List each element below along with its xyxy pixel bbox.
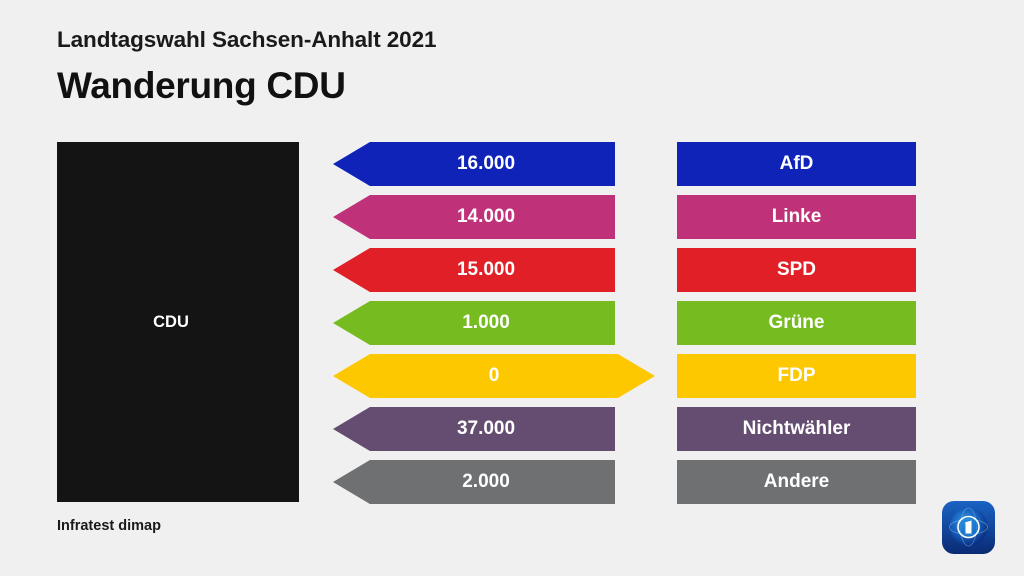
header: Landtagswahl Sachsen-Anhalt 2021 Wanderu…: [57, 28, 957, 107]
election-kicker: Landtagswahl Sachsen-Anhalt 2021: [57, 28, 957, 53]
party-name-label: FDP: [778, 365, 816, 387]
party-bar-andere[interactable]: Andere: [677, 460, 916, 504]
flow-value-label: 1.000: [462, 312, 510, 334]
flow-value-bar-fdp[interactable]: 0: [333, 354, 655, 398]
flow-row: 0FDP: [0, 354, 1024, 398]
source-credit: Infratest dimap: [57, 518, 161, 534]
flow-value-label: 37.000: [457, 418, 515, 440]
party-bar-spd[interactable]: SPD: [677, 248, 916, 292]
flow-value-bar-nichtwähler[interactable]: 37.000: [333, 407, 615, 451]
flow-value-bar-spd[interactable]: 15.000: [333, 248, 615, 292]
flow-value-bar-afd[interactable]: 16.000: [333, 142, 615, 186]
flow-row: 14.000Linke: [0, 195, 1024, 239]
flow-row: 37.000Nichtwähler: [0, 407, 1024, 451]
flow-value-label: 2.000: [462, 471, 510, 493]
flow-value-label: 0: [489, 365, 500, 387]
flow-row: 15.000SPD: [0, 248, 1024, 292]
flow-value-label: 15.000: [457, 259, 515, 281]
party-bar-grüne[interactable]: Grüne: [677, 301, 916, 345]
flow-value-bar-grüne[interactable]: 1.000: [333, 301, 615, 345]
party-name-label: Andere: [764, 471, 829, 493]
party-bar-afd[interactable]: AfD: [677, 142, 916, 186]
party-name-label: Nichtwähler: [743, 418, 851, 440]
party-bar-nichtwähler[interactable]: Nichtwähler: [677, 407, 916, 451]
party-name-label: SPD: [777, 259, 816, 281]
party-name-label: Linke: [772, 206, 822, 228]
flow-row: 1.000Grüne: [0, 301, 1024, 345]
flow-value-label: 14.000: [457, 206, 515, 228]
voter-flow-rows: 16.000AfD14.000Linke15.000SPD1.000Grüne0…: [0, 142, 1024, 513]
das-erste-app-icon: [941, 500, 996, 555]
party-name-label: AfD: [780, 153, 814, 175]
flow-row: 16.000AfD: [0, 142, 1024, 186]
party-bar-fdp[interactable]: FDP: [677, 354, 916, 398]
flow-value-bar-linke[interactable]: 14.000: [333, 195, 615, 239]
flow-value-label: 16.000: [457, 153, 515, 175]
party-name-label: Grüne: [769, 312, 825, 334]
flow-row: 2.000Andere: [0, 460, 1024, 504]
flow-value-bar-andere[interactable]: 2.000: [333, 460, 615, 504]
das-erste-logo-icon: [941, 500, 996, 555]
party-bar-linke[interactable]: Linke: [677, 195, 916, 239]
page-title: Wanderung CDU: [57, 65, 957, 108]
